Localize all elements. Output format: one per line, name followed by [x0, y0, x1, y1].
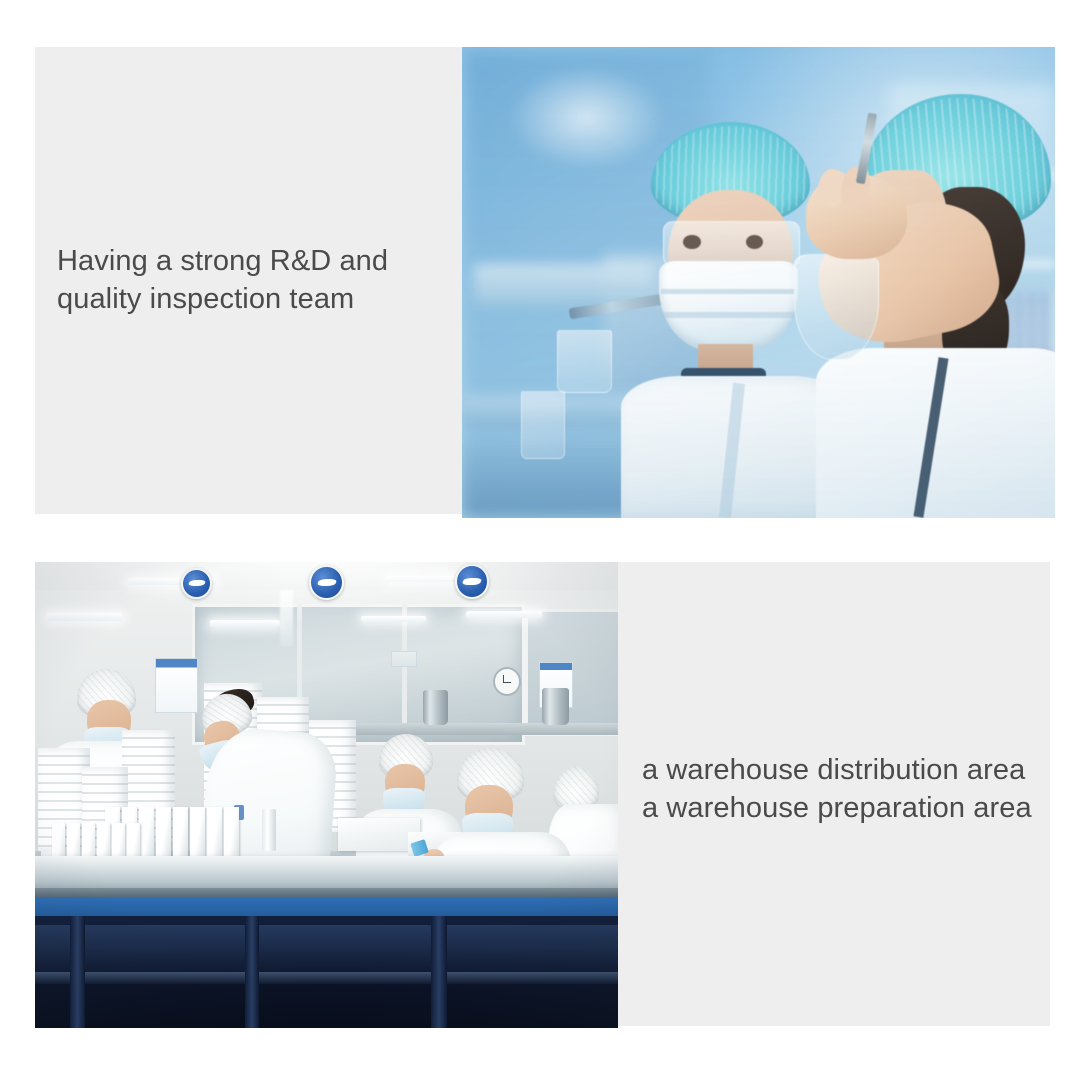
caption-line-1: a warehouse distribution area	[642, 752, 1042, 790]
caption-line-2: quality inspection team	[57, 281, 457, 319]
warehouse-packing-photo	[35, 562, 618, 1028]
lab-quality-inspection-photo	[462, 47, 1055, 518]
warehouse-areas-caption: a warehouse distribution area a warehous…	[642, 752, 1042, 827]
photo-vignette	[35, 562, 618, 1028]
rnd-quality-caption: Having a strong R&D and quality inspecti…	[57, 243, 457, 318]
caption-line-1: Having a strong R&D and	[57, 243, 457, 281]
caption-line-2: a warehouse preparation area	[642, 790, 1042, 828]
page-canvas: Having a strong R&D and quality inspecti…	[0, 0, 1080, 1080]
photo-color-grade	[462, 47, 1055, 518]
